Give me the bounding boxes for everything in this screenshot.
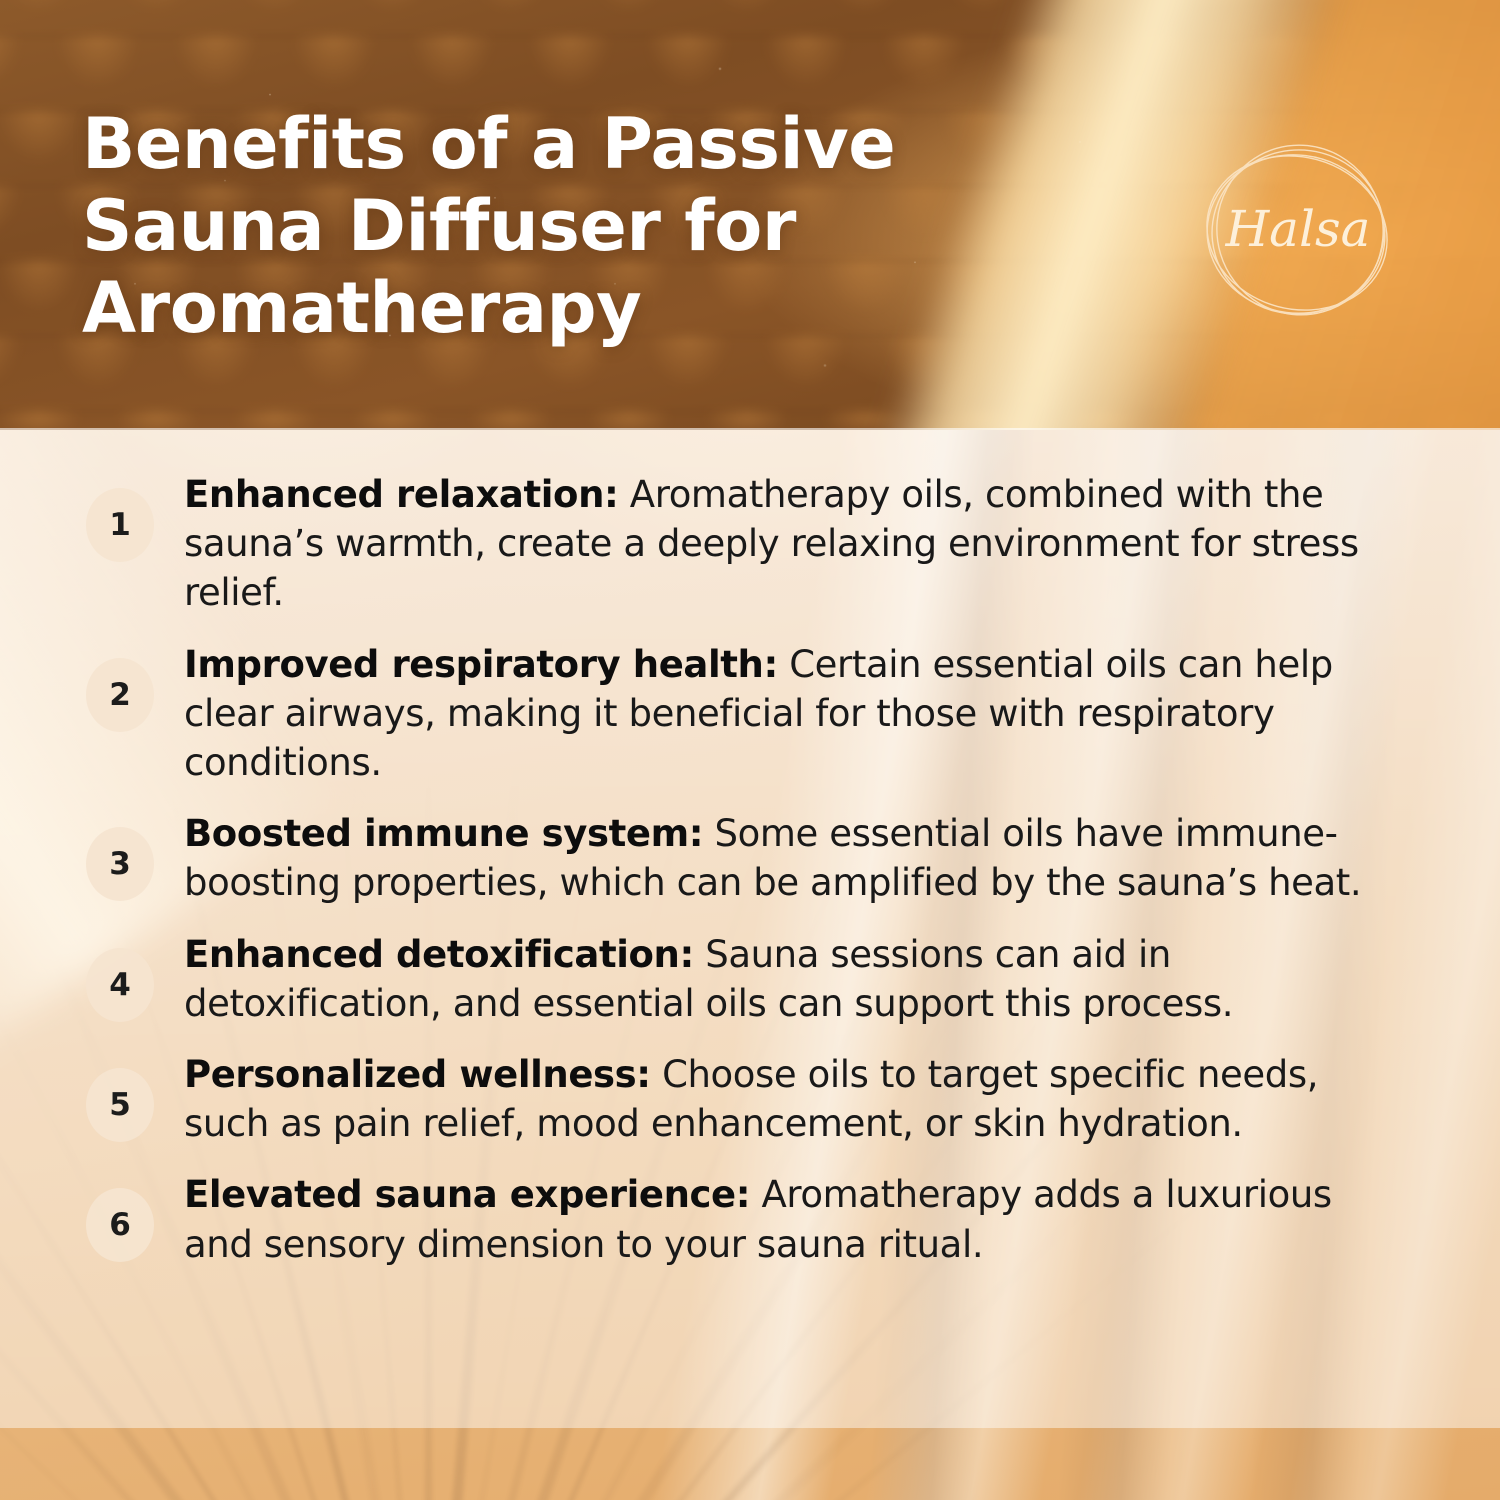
logo-circle-sketch-icon: Halsa (1192, 138, 1404, 326)
benefit-text: Boosted immune system: Some essential oi… (184, 809, 1374, 907)
benefit-item: 4Enhanced detoxification: Sauna sessions… (0, 930, 1440, 1028)
benefit-number-badge: 4 (86, 948, 154, 1022)
benefit-item: 2Improved respiratory health: Certain es… (0, 640, 1440, 788)
benefit-number-badge: 5 (86, 1068, 154, 1142)
benefit-lead: Personalized wellness: (184, 1053, 651, 1096)
benefit-item: 1Enhanced relaxation: Aromatherapy oils,… (0, 470, 1440, 618)
benefit-text: Improved respiratory health: Certain ess… (184, 640, 1374, 788)
benefit-number-badge: 2 (86, 658, 154, 732)
benefit-text: Personalized wellness: Choose oils to ta… (184, 1050, 1374, 1148)
benefit-lead: Improved respiratory health: (184, 643, 778, 686)
benefit-text: Elevated sauna experience: Aromatherapy … (184, 1170, 1374, 1268)
page-title: Benefits of a PassiveSauna Diffuser forA… (82, 104, 982, 350)
benefit-number-badge: 6 (86, 1188, 154, 1262)
benefit-item: 3Boosted immune system: Some essential o… (0, 809, 1440, 907)
benefit-item: 5Personalized wellness: Choose oils to t… (0, 1050, 1440, 1148)
logo-wordmark: Halsa (1225, 200, 1371, 258)
page-title-line: Aromatherapy (82, 267, 641, 349)
benefit-number-badge: 1 (86, 488, 154, 562)
benefit-text: Enhanced relaxation: Aromatherapy oils, … (184, 470, 1374, 618)
page-title-line: Benefits of a Passive (82, 103, 895, 185)
benefits-list: 1Enhanced relaxation: Aromatherapy oils,… (0, 470, 1500, 1291)
benefit-lead: Enhanced detoxification: (184, 933, 694, 976)
brand-logo[interactable]: Halsa (1192, 138, 1404, 326)
benefit-text: Enhanced detoxification: Sauna sessions … (184, 930, 1374, 1028)
poster-header: Benefits of a PassiveSauna Diffuser forA… (0, 0, 1500, 430)
benefit-lead: Elevated sauna experience: (184, 1173, 750, 1216)
page-title-line: Sauna Diffuser for (82, 185, 796, 267)
benefit-item: 6Elevated sauna experience: Aromatherapy… (0, 1170, 1440, 1268)
benefit-lead: Boosted immune system: (184, 812, 703, 855)
benefit-number-badge: 3 (86, 827, 154, 901)
infographic-poster: Benefits of a PassiveSauna Diffuser forA… (0, 0, 1500, 1500)
benefit-lead: Enhanced relaxation: (184, 473, 618, 516)
